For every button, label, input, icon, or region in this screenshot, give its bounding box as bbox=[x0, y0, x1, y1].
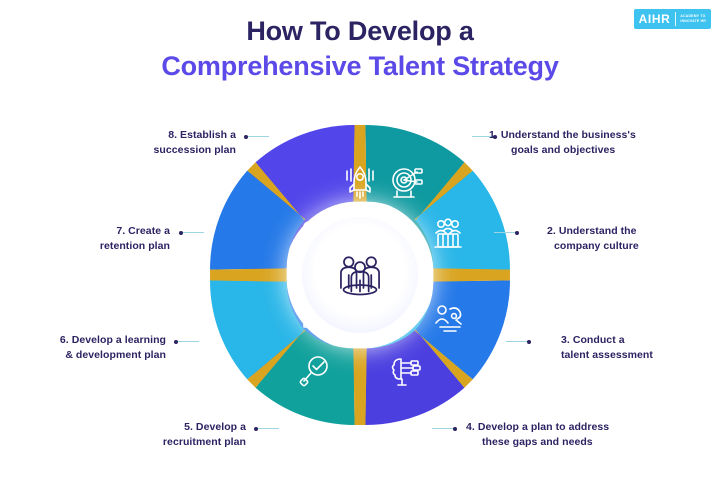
title-line-1: How To Develop a bbox=[0, 14, 720, 49]
step-label-1: 1. Understand the business's goals and o… bbox=[489, 128, 685, 158]
people-group-icon bbox=[334, 249, 386, 301]
step-label-8: 8. Establish a succession plan bbox=[100, 128, 236, 158]
step-label-7-line2: retention plan bbox=[40, 239, 170, 254]
accent-2 bbox=[433, 268, 510, 281]
step-label-7-line1: 7. Create a bbox=[40, 224, 170, 239]
infographic-canvas: AIHR ACADEMY TO INNOVATE HR How To Devel… bbox=[0, 0, 720, 477]
step-label-6-line1: 6. Develop a learning bbox=[8, 333, 166, 348]
step-label-3: 3. Conduct a talent assessment bbox=[561, 333, 706, 363]
connector-step-2 bbox=[494, 232, 518, 233]
step-label-2-line2: company culture bbox=[547, 239, 697, 254]
step-label-8-line1: 8. Establish a bbox=[100, 128, 236, 143]
process-wheel bbox=[198, 113, 522, 437]
step-label-3-line2: talent assessment bbox=[561, 348, 706, 363]
page-title: How To Develop a Comprehensive Talent St… bbox=[0, 14, 720, 83]
accent-4 bbox=[353, 348, 366, 425]
connector-step-3 bbox=[506, 341, 530, 342]
step-label-2: 2. Understand the company culture bbox=[547, 224, 697, 254]
step-label-5-line1: 5. Develop a bbox=[80, 420, 246, 435]
step-label-4-line2: these gaps and needs bbox=[466, 435, 676, 450]
connector-step-7 bbox=[180, 232, 204, 233]
step-label-7: 7. Create a retention plan bbox=[40, 224, 170, 254]
title-line-2: Comprehensive Talent Strategy bbox=[0, 49, 720, 84]
step-label-3-line1: 3. Conduct a bbox=[561, 333, 706, 348]
accent-6 bbox=[210, 268, 287, 281]
step-label-4: 4. Develop a plan to address these gaps … bbox=[466, 420, 676, 450]
step-label-6-line2: & development plan bbox=[8, 348, 166, 363]
connector-step-8 bbox=[245, 136, 269, 137]
step-label-2-line1: 2. Understand the bbox=[547, 224, 697, 239]
center-hub bbox=[302, 217, 418, 333]
step-label-1-line1: 1. Understand the business's bbox=[489, 128, 685, 143]
step-label-8-line2: succession plan bbox=[100, 143, 236, 158]
step-label-1-line2: goals and objectives bbox=[489, 143, 685, 158]
connector-step-5 bbox=[255, 428, 279, 429]
step-label-5: 5. Develop a recruitment plan bbox=[80, 420, 246, 450]
connector-step-4 bbox=[432, 428, 456, 429]
step-label-5-line2: recruitment plan bbox=[80, 435, 246, 450]
step-label-4-line1: 4. Develop a plan to address bbox=[466, 420, 676, 435]
connector-step-6 bbox=[175, 341, 199, 342]
step-label-6: 6. Develop a learning & development plan bbox=[8, 333, 166, 363]
